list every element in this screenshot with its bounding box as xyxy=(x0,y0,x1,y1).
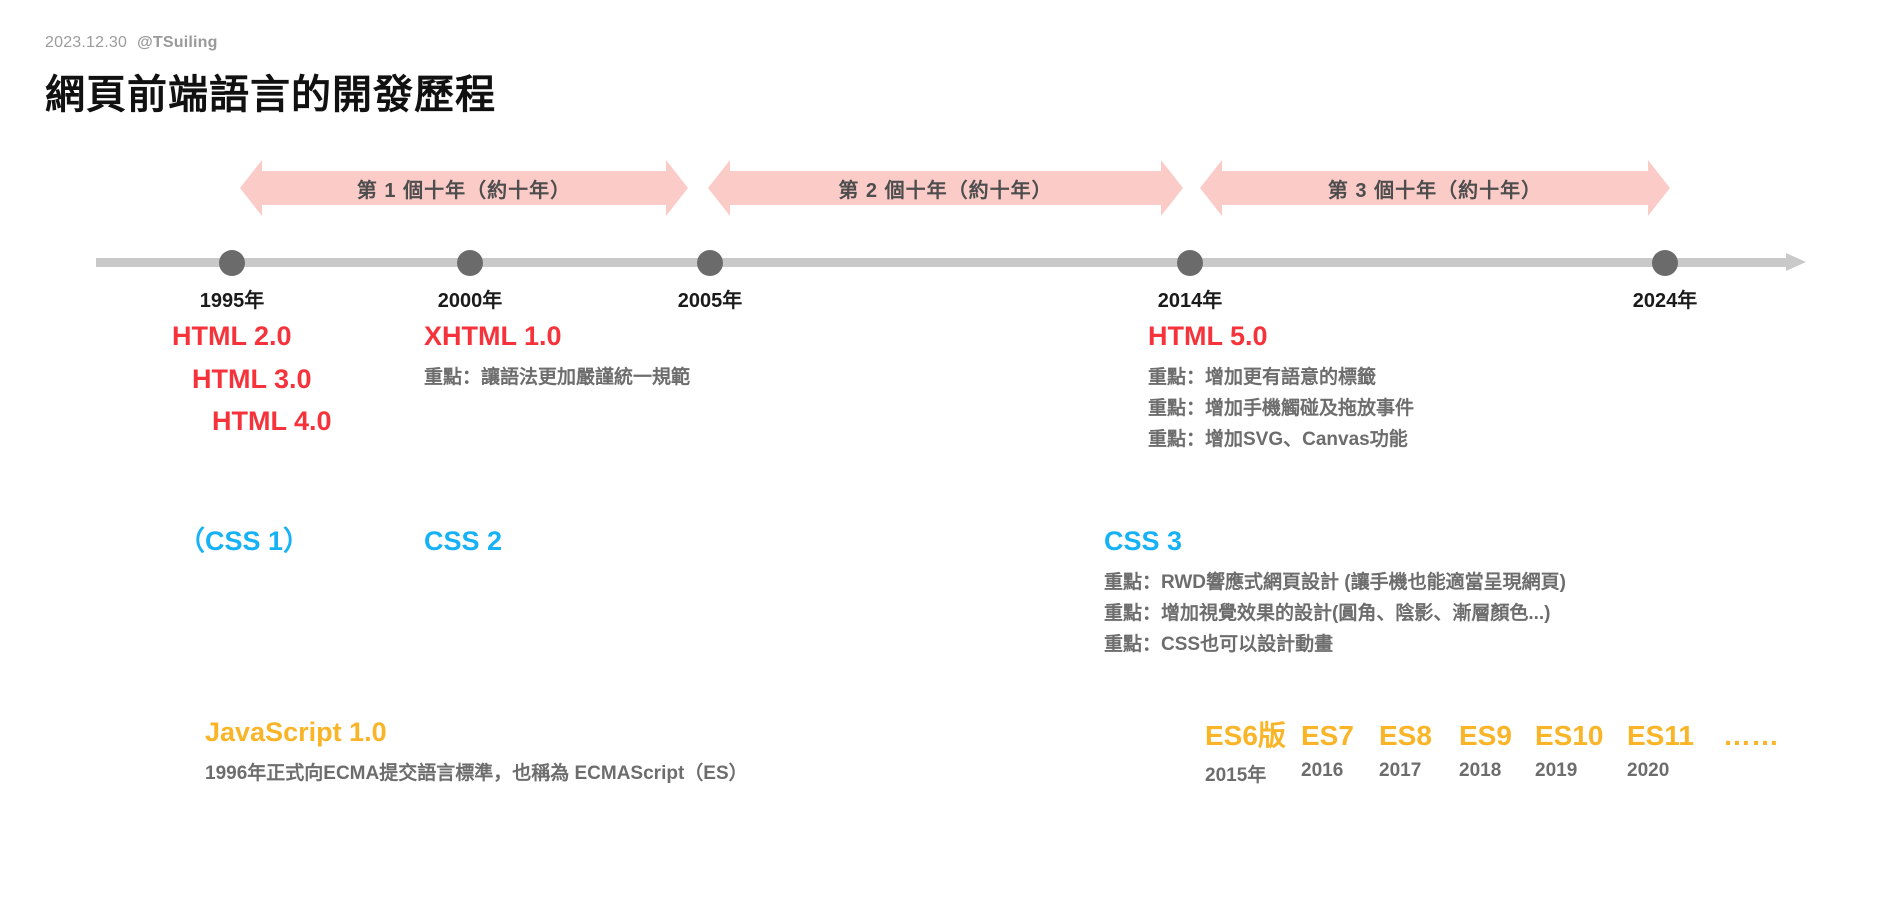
css1-title: （CSS 1） xyxy=(178,527,310,557)
decade-arrow-label: 第 3 個十年（約十年） xyxy=(1328,174,1542,203)
timeline-year-label-2014: 2014年 xyxy=(1158,284,1223,313)
page-title: 網頁前端語言的開發歷程 xyxy=(45,62,496,120)
timeline-dot-2014[interactable] xyxy=(1177,250,1203,276)
timeline-dot-2005[interactable] xyxy=(697,250,723,276)
es-version-name-3: ES8 xyxy=(1379,720,1459,752)
xhtml-bullets: 重點：讓語法更加嚴謹統一規範 xyxy=(424,362,690,393)
css2-title: CSS 2 xyxy=(424,527,502,557)
html5-bullets: 重點：增加更有語意的標籤 重點：增加手機觸碰及拖放事件 重點：增加SVG、Can… xyxy=(1148,362,1414,456)
timeline-dot-1995[interactable] xyxy=(219,250,245,276)
es-version-year-4: 2018 xyxy=(1459,760,1535,787)
es-version-name-7: …… xyxy=(1723,720,1779,752)
timeline-dot-2024[interactable] xyxy=(1652,250,1678,276)
es-version-year-2: 2016 xyxy=(1301,760,1379,787)
axis-line xyxy=(96,258,1788,267)
entry-xhtml: XHTML 1.0 重點：讓語法更加嚴謹統一規範 xyxy=(424,322,690,393)
decade-arrow-2: 第 2 個十年（約十年） xyxy=(708,160,1183,216)
html5-bullet-1: 重點：增加更有語意的標籤 xyxy=(1148,362,1414,393)
html-version-2: HTML 3.0 xyxy=(192,365,332,395)
byline-handle: @TSuiling xyxy=(137,34,218,51)
decade-arrow-1: 第 1 個十年（約十年） xyxy=(240,160,688,216)
timeline-axis xyxy=(0,250,1900,276)
es-version-name-2: ES7 xyxy=(1301,720,1379,752)
entry-html5: HTML 5.0 重點：增加更有語意的標籤 重點：增加手機觸碰及拖放事件 重點：… xyxy=(1148,322,1414,456)
xhtml-bullet-1: 重點：讓語法更加嚴謹統一規範 xyxy=(424,362,690,393)
byline: 2023.12.30@TSuiling xyxy=(45,34,496,52)
byline-date: 2023.12.30 xyxy=(45,34,127,51)
decade-arrow-label: 第 1 個十年（約十年） xyxy=(357,174,571,203)
es-version-year-1: 2015年 xyxy=(1205,760,1301,787)
html5-bullet-2: 重點：增加手機觸碰及拖放事件 xyxy=(1148,393,1414,424)
es-version-name-6: ES11 xyxy=(1627,720,1723,752)
es-version-year-3: 2017 xyxy=(1379,760,1459,787)
css3-title: CSS 3 xyxy=(1104,527,1566,557)
es-version-names: ES6版ES7ES8ES9ES10ES11…… xyxy=(1205,714,1779,754)
es-version-name-5: ES10 xyxy=(1535,720,1627,752)
timeline-year-label-1995: 1995年 xyxy=(200,284,265,313)
timeline-year-label-2024: 2024年 xyxy=(1633,284,1698,313)
html-version-3: HTML 4.0 xyxy=(212,407,332,437)
entry-javascript: JavaScript 1.0 1996年正式向ECMA提交語言標準，也稱為 EC… xyxy=(205,718,748,789)
es-version-year-6: 2020 xyxy=(1627,760,1723,787)
javascript-bullets: 1996年正式向ECMA提交語言標準，也稱為 ECMAScript（ES） xyxy=(205,758,748,789)
es-version-year-5: 2019 xyxy=(1535,760,1627,787)
entry-css1: （CSS 1） xyxy=(178,527,310,557)
timeline-dot-2000[interactable] xyxy=(457,250,483,276)
javascript-title: JavaScript 1.0 xyxy=(205,718,748,748)
xhtml-title: XHTML 1.0 xyxy=(424,322,690,352)
es-version-years: 2015年20162017201820192020 xyxy=(1205,760,1779,787)
css3-bullet-1: 重點：RWD響應式網頁設計 (讓手機也能適當呈現網頁) xyxy=(1104,567,1566,598)
javascript-bullet-1: 1996年正式向ECMA提交語言標準，也稱為 ECMAScript（ES） xyxy=(205,758,748,789)
html5-bullet-3: 重點：增加SVG、Canvas功能 xyxy=(1148,424,1414,455)
entry-css2: CSS 2 xyxy=(424,527,502,557)
css3-bullet-2: 重點：增加視覺效果的設計(圓角、陰影、漸層顏色...) xyxy=(1104,598,1566,629)
entry-es-versions: ES6版ES7ES8ES9ES10ES11…… 2015年20162017201… xyxy=(1205,714,1779,787)
html5-title: HTML 5.0 xyxy=(1148,322,1414,352)
html-version-1: HTML 2.0 xyxy=(172,322,332,352)
decade-arrow-3: 第 3 個十年（約十年） xyxy=(1200,160,1670,216)
timeline-year-label-2005: 2005年 xyxy=(678,284,743,313)
decade-arrow-label: 第 2 個十年（約十年） xyxy=(838,174,1052,203)
decade-arrow-band: 第 1 個十年（約十年）第 2 個十年（約十年）第 3 個十年（約十年） xyxy=(0,160,1900,216)
entry-html-versions: HTML 2.0 HTML 3.0 HTML 4.0 xyxy=(172,322,332,437)
page-header: 2023.12.30@TSuiling 網頁前端語言的開發歷程 xyxy=(45,34,496,120)
entry-css3: CSS 3 重點：RWD響應式網頁設計 (讓手機也能適當呈現網頁) 重點：增加視… xyxy=(1104,527,1566,661)
css3-bullets: 重點：RWD響應式網頁設計 (讓手機也能適當呈現網頁) 重點：增加視覺效果的設計… xyxy=(1104,567,1566,661)
es-version-name-4: ES9 xyxy=(1459,720,1535,752)
es-version-name-1: ES6版 xyxy=(1205,714,1301,754)
css3-bullet-3: 重點：CSS也可以設計動畫 xyxy=(1104,629,1566,660)
axis-arrowhead-icon xyxy=(1786,253,1806,271)
timeline-year-label-2000: 2000年 xyxy=(438,284,503,313)
